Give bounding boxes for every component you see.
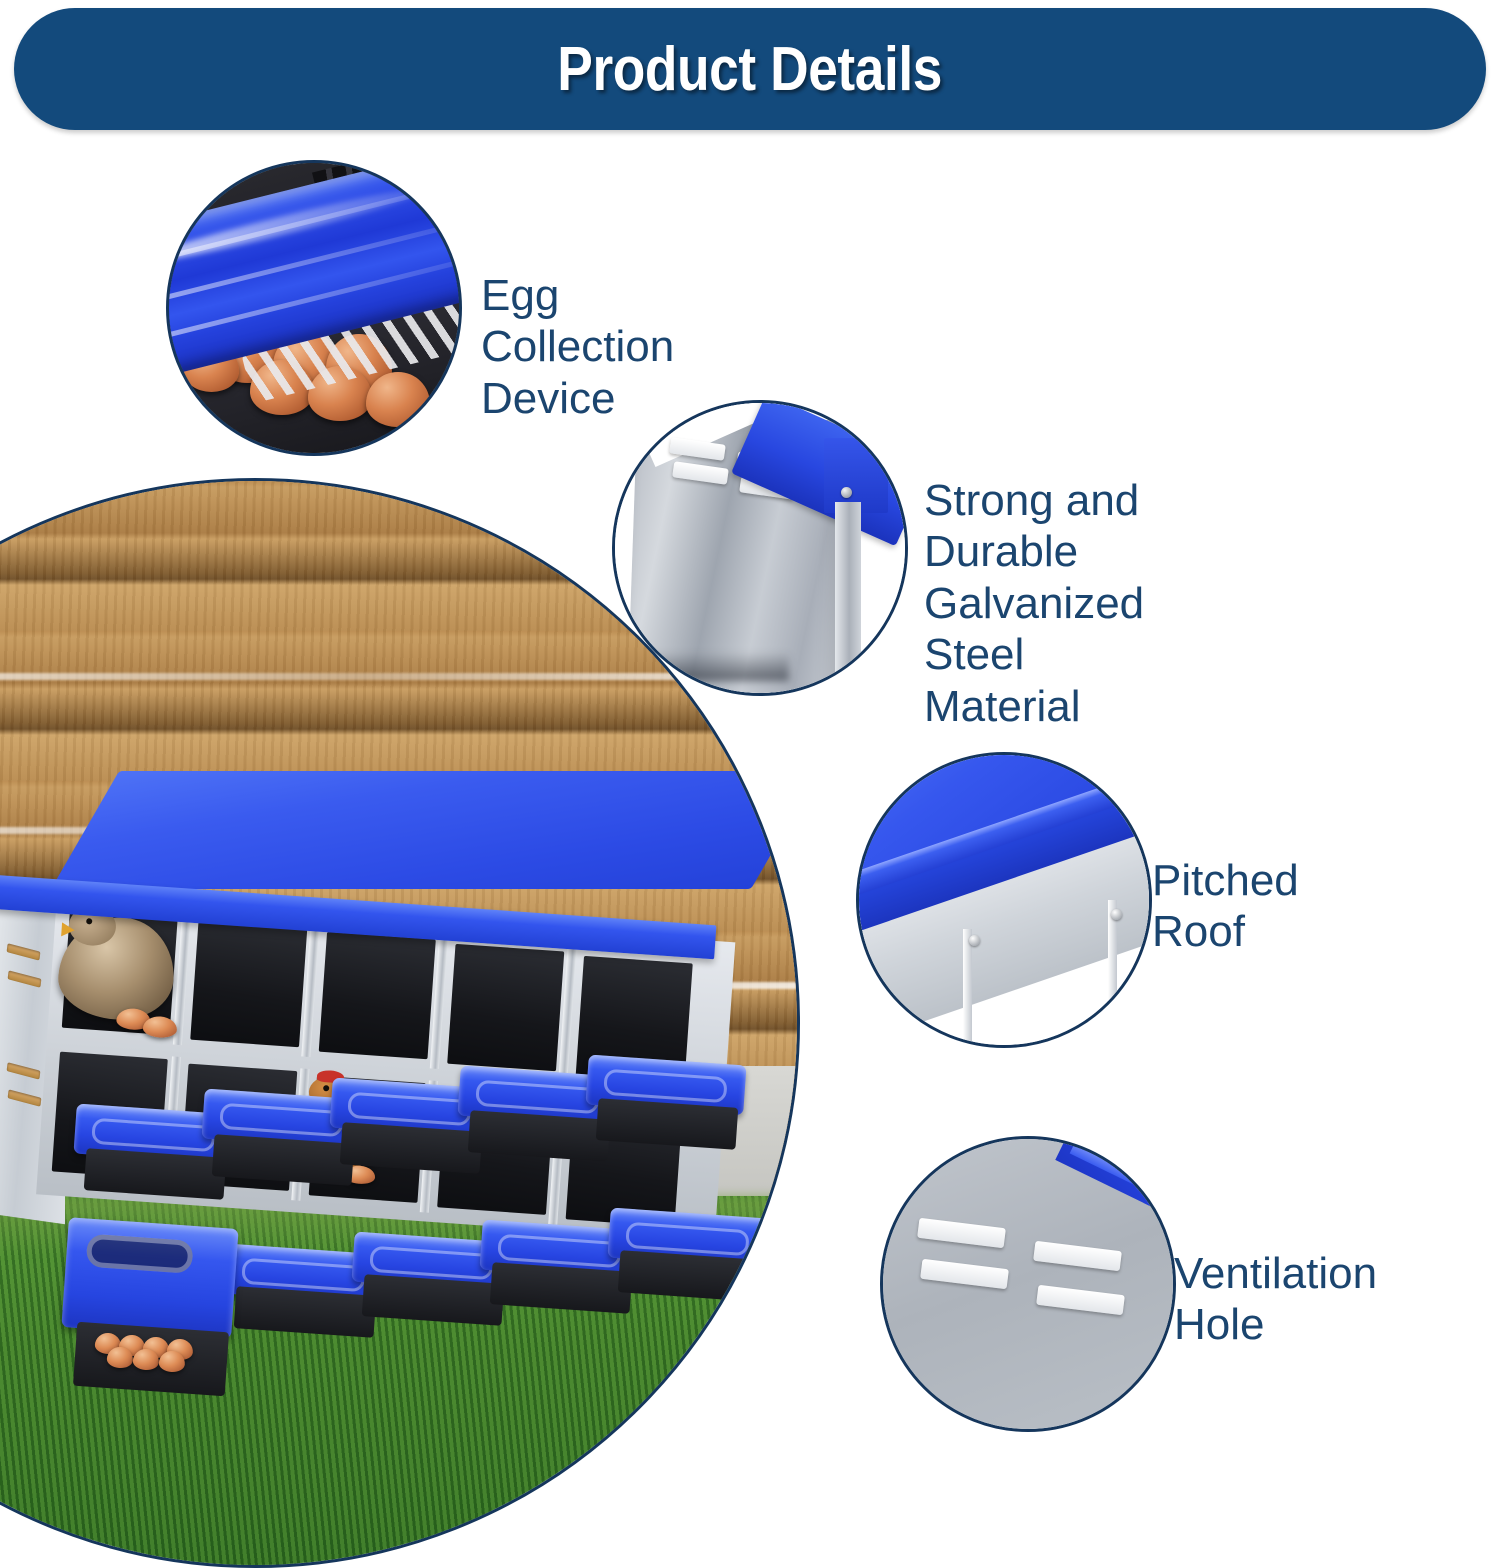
main-product-photo xyxy=(0,478,800,1568)
pitched-roof-top xyxy=(51,771,800,889)
product-scene xyxy=(0,481,797,1565)
vent-slot xyxy=(7,944,40,961)
vent-slots-icon xyxy=(880,1136,1176,1432)
wall-post xyxy=(1108,900,1117,1039)
vent-slot xyxy=(920,1258,1009,1289)
vent-slot xyxy=(7,1062,40,1079)
corner-post xyxy=(835,502,861,676)
fence-plank-edge xyxy=(0,673,797,680)
wall-post xyxy=(963,929,972,1048)
rivet xyxy=(1111,909,1122,920)
callout-label-ventilation-hole: Ventilation Hole xyxy=(1174,1248,1377,1351)
hen-eye xyxy=(323,1085,329,1091)
vent-slot xyxy=(8,970,41,987)
hen-beak xyxy=(61,922,75,937)
egg xyxy=(143,1015,178,1038)
vent-slot xyxy=(8,1089,41,1106)
compartment xyxy=(447,944,564,1071)
compartment xyxy=(319,932,436,1059)
vent-slot xyxy=(917,1218,1006,1249)
door-handle xyxy=(86,1234,193,1274)
page-title: Product Details xyxy=(558,34,943,105)
vent-slot xyxy=(1033,1241,1122,1272)
egg-tray xyxy=(490,1262,633,1314)
egg-tray-icon xyxy=(166,160,462,456)
egg-tray xyxy=(618,1250,761,1302)
egg-tray xyxy=(234,1286,377,1338)
egg-collection-photo xyxy=(169,163,459,453)
pitched-roof-photo xyxy=(859,755,1149,1045)
chicken-nesting-box xyxy=(13,771,800,1331)
roof-icon xyxy=(856,752,1152,1048)
callout-label-galvanized-steel: Strong and Durable Galvanized Steel Mate… xyxy=(924,475,1144,732)
callout-label-pitched-roof: Pitched Roof xyxy=(1152,855,1299,958)
vent-slot xyxy=(1036,1285,1125,1316)
ventilation-hole-photo xyxy=(883,1139,1173,1429)
rivet xyxy=(969,935,980,946)
callout-label-egg-collection: Egg Collection Device xyxy=(481,270,674,424)
egg-tray xyxy=(362,1274,505,1326)
access-door xyxy=(61,1217,238,1339)
page-header-banner: Product Details xyxy=(14,8,1486,130)
lid-rib xyxy=(166,216,462,307)
hen-eye xyxy=(86,918,92,924)
compartment xyxy=(190,920,307,1047)
